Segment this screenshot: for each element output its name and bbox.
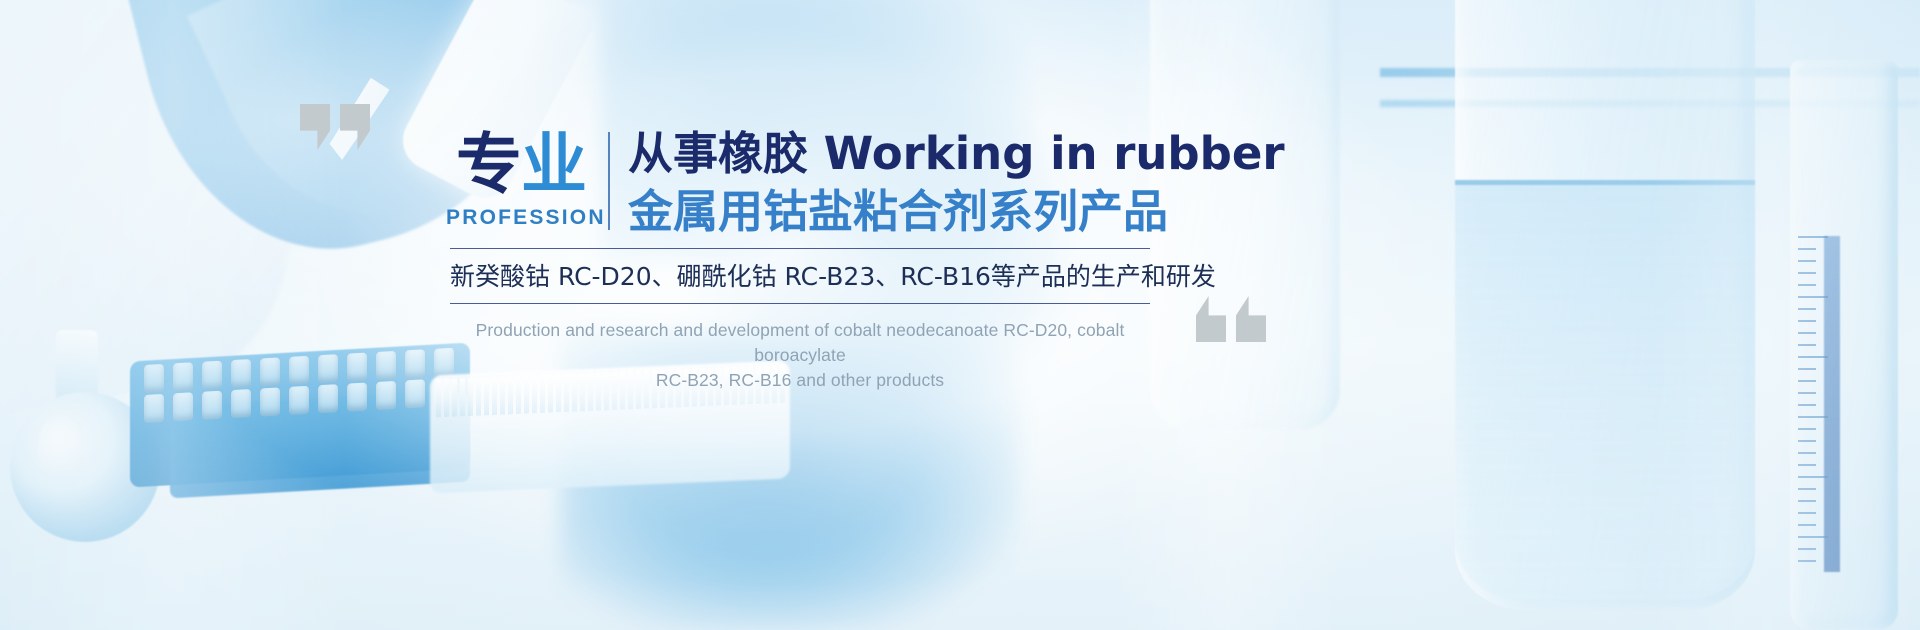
divider-above-subtitle bbox=[450, 248, 1150, 249]
hero-banner: 专业 PROFESSION 从事橡胶 Working in rubber 金属用… bbox=[0, 0, 1920, 630]
headline-line-2: 金属用钴盐粘合剂系列产品 bbox=[628, 184, 1728, 240]
logo-chinese: 专业 bbox=[446, 128, 596, 202]
subtitle-text: 新癸酸钴 RC-D20、硼酰化钴 RC-B23、RC-B16等产品的生产和研发 bbox=[450, 256, 1150, 298]
english-caption: Production and research and development … bbox=[430, 318, 1170, 393]
english-caption-line-2: RC-B23, RC-B16 and other products bbox=[430, 368, 1170, 393]
headline-line-1: 从事橡胶 Working in rubber bbox=[628, 126, 1728, 182]
logo-chinese-char-1: 专 bbox=[456, 126, 521, 203]
logo-chinese-char-2: 业 bbox=[521, 126, 586, 203]
divider-below-subtitle bbox=[450, 303, 1150, 304]
headline-block: 从事橡胶 Working in rubber 金属用钴盐粘合剂系列产品 bbox=[628, 126, 1728, 240]
vertical-divider bbox=[608, 132, 610, 230]
english-caption-line-1: Production and research and development … bbox=[430, 318, 1170, 368]
logo-english-label: PROFESSION bbox=[446, 206, 596, 230]
banner-content: 专业 PROFESSION 从事橡胶 Working in rubber 金属用… bbox=[0, 0, 1920, 630]
profession-logo: 专业 PROFESSION bbox=[446, 128, 596, 243]
